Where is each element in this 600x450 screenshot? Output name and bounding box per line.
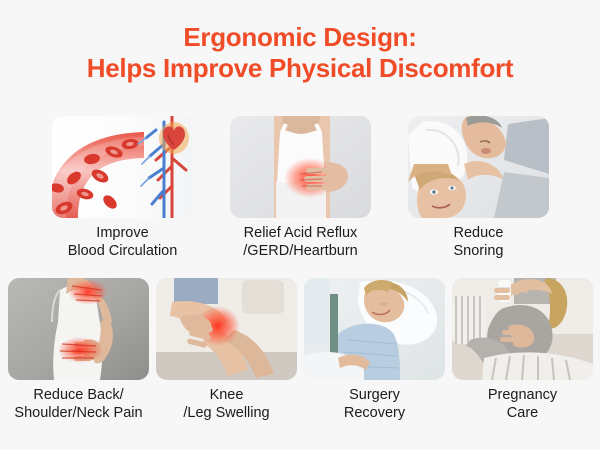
benefits-row-1: Improve Blood Circulation [52,116,548,260]
pregnant-woman-on-sofa-photo [452,278,593,380]
benefit-caption: Relief Acid Reflux /GERD/Heartburn [221,225,381,260]
caption-line-1: Relief Acid Reflux [221,225,381,243]
woman-in-hospital-bed-photo [304,278,445,380]
benefit-caption: Surgery Recovery [295,387,455,422]
ergonomic-design-benefits-page: Ergonomic Design: Helps Improve Physical… [0,0,600,450]
woman-back-neck-pain-photo [8,278,149,380]
caption-line-2: Blood Circulation [43,243,203,261]
caption-line-2: Recovery [295,405,455,423]
benefit-card-improve-blood-circulation[interactable]: Improve Blood Circulation [52,116,193,260]
benefit-card-pregnancy-care[interactable]: Pregnancy Care [452,278,593,422]
caption-line-2: Shoulder/Neck Pain [0,405,159,423]
benefit-caption: Improve Blood Circulation [43,225,203,260]
caption-line-1: Reduce [399,225,559,243]
benefit-caption: Reduce Back/ Shoulder/Neck Pain [0,387,159,422]
benefit-caption: Pregnancy Care [443,387,600,422]
benefits-row-2: Reduce Back/ Shoulder/Neck Pain [8,278,592,422]
caption-line-1: Improve [43,225,203,243]
couple-in-bed-snoring-photo [408,116,549,218]
caption-line-1: Reduce Back/ [0,387,159,405]
benefit-caption: Knee /Leg Swelling [147,387,307,422]
benefit-card-surgery-recovery[interactable]: Surgery Recovery [304,278,445,422]
page-title-line-1: Ergonomic Design: [0,22,600,53]
benefit-card-reduce-back-shoulder-neck-pain[interactable]: Reduce Back/ Shoulder/Neck Pain [8,278,149,422]
person-holding-knee-photo [156,278,297,380]
blood-circulation-illustration [52,116,193,218]
caption-line-1: Knee [147,387,307,405]
benefit-caption: Reduce Snoring [399,225,559,260]
page-title-line-2: Helps Improve Physical Discomfort [0,53,600,84]
caption-line-1: Pregnancy [443,387,600,405]
benefit-card-reduce-snoring[interactable]: Reduce Snoring [408,116,549,260]
caption-line-2: /Leg Swelling [147,405,307,423]
benefit-card-knee-leg-swelling[interactable]: Knee /Leg Swelling [156,278,297,422]
caption-line-2: Care [443,405,600,423]
caption-line-1: Surgery [295,387,455,405]
benefit-card-relief-acid-reflux[interactable]: Relief Acid Reflux /GERD/Heartburn [230,116,371,260]
caption-line-2: Snoring [399,243,559,261]
woman-holding-stomach-photo [230,116,371,218]
caption-line-2: /GERD/Heartburn [221,243,381,261]
page-title: Ergonomic Design: Helps Improve Physical… [0,22,600,84]
